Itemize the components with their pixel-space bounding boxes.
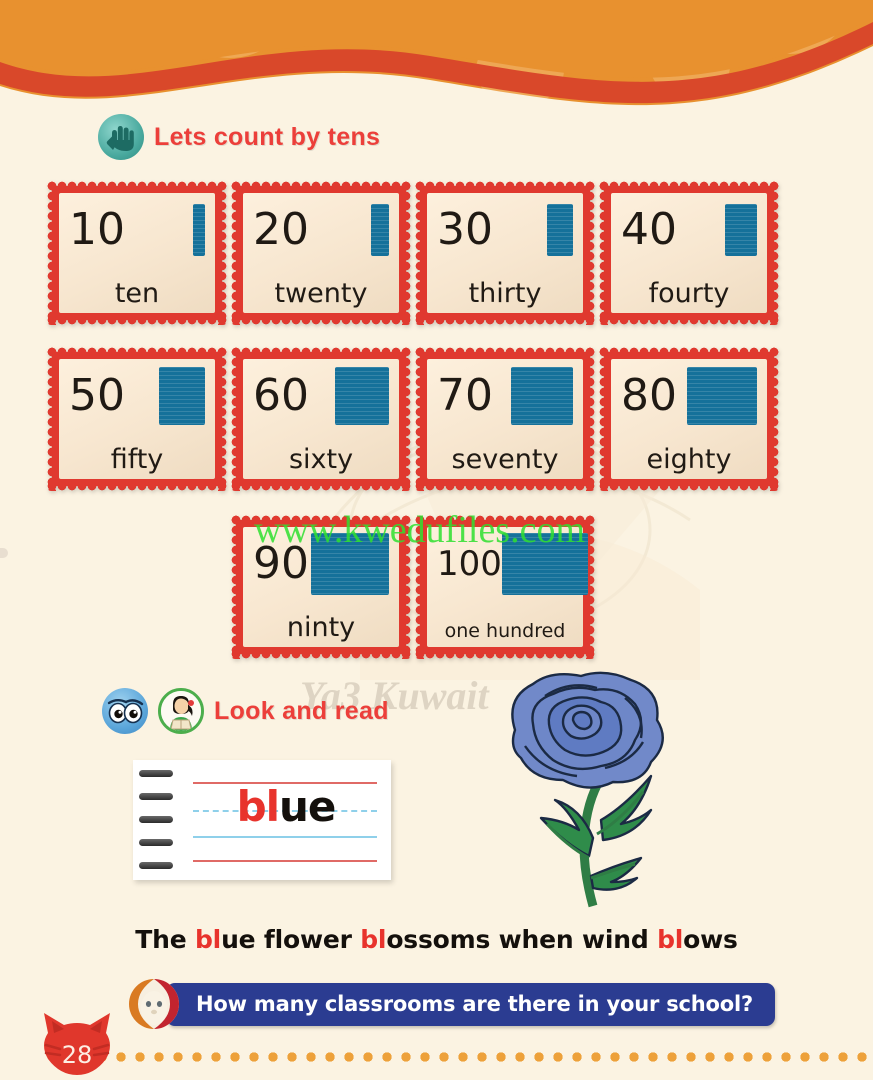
card-number: 40 xyxy=(621,208,677,252)
card-number: 100 xyxy=(437,547,502,581)
base-ten-block xyxy=(547,204,573,256)
card-number: 30 xyxy=(437,208,493,252)
number-card[interactable]: 30 thirty xyxy=(420,186,590,320)
number-card-row-3: 90 ninty 100 one hundred xyxy=(236,520,590,654)
number-card[interactable]: 40 fourty xyxy=(604,186,774,320)
hand-icon xyxy=(98,114,144,160)
number-card[interactable]: 100 one hundred xyxy=(420,520,590,654)
sentence-part: bl xyxy=(657,925,683,954)
base-ten-block xyxy=(725,204,757,256)
sentence-part: The xyxy=(135,925,195,954)
card-word: eighty xyxy=(621,446,757,475)
notebook-word-prefix: bl xyxy=(237,782,279,831)
notebook-word-suffix: ue xyxy=(279,782,335,831)
base-ten-block xyxy=(159,367,205,425)
card-word: thirty xyxy=(437,280,573,309)
card-word: sixty xyxy=(253,446,389,475)
rule-line-baseline xyxy=(193,836,377,838)
card-word: ten xyxy=(69,280,205,309)
sentence-part: ossoms when wind xyxy=(386,925,657,954)
card-word: twenty xyxy=(253,280,389,309)
number-card-row-2: 50 fifty 60 sixty 70 seventy 80 xyxy=(52,352,774,486)
question-banner[interactable]: How many classrooms are there in your sc… xyxy=(166,983,775,1026)
notebook-word: blue xyxy=(181,782,391,831)
sentence-part: bl xyxy=(360,925,386,954)
card-number: 60 xyxy=(253,374,309,418)
number-card[interactable]: 80 eighty xyxy=(604,352,774,486)
base-ten-block xyxy=(193,204,205,256)
page-header-band xyxy=(0,0,873,108)
base-ten-block xyxy=(511,367,573,425)
blue-rose-illustration xyxy=(485,668,705,918)
card-word: fourty xyxy=(621,280,757,309)
number-card[interactable]: 60 sixty xyxy=(236,352,406,486)
section-header-count: Lets count by tens xyxy=(98,114,380,160)
notebook-page: blue xyxy=(181,760,391,880)
base-ten-block xyxy=(311,533,389,595)
number-card-row-1: 10 ten 20 twenty 30 thirty 40 xyxy=(52,186,774,320)
sentence-part: bl xyxy=(195,925,221,954)
card-number: 90 xyxy=(253,542,309,586)
card-number: 10 xyxy=(69,208,125,252)
eyes-icon xyxy=(102,688,148,734)
card-number: 20 xyxy=(253,208,309,252)
card-word: fifty xyxy=(69,446,205,475)
page-number: 28 xyxy=(38,1041,116,1069)
number-card[interactable]: 70 seventy xyxy=(420,352,590,486)
sentence-part: ue flower xyxy=(221,925,360,954)
section-title-look: Look and read xyxy=(214,697,389,726)
sentence-line: The blue flower blossoms when wind blows xyxy=(0,925,873,954)
rule-line-bottom xyxy=(193,860,377,862)
section-header-look: Look and read xyxy=(102,688,389,734)
number-card[interactable]: 20 twenty xyxy=(236,186,406,320)
number-card[interactable]: 50 fifty xyxy=(52,352,222,486)
number-card[interactable]: 90 ninty xyxy=(236,520,406,654)
card-word: one hundred xyxy=(437,622,573,643)
base-ten-block xyxy=(371,204,389,256)
number-card[interactable]: 10 ten xyxy=(52,186,222,320)
girl-reading-icon xyxy=(158,688,204,734)
base-ten-block xyxy=(335,367,389,425)
card-number: 80 xyxy=(621,374,677,418)
card-word: seventy xyxy=(437,446,573,475)
page-number-badge: 28 xyxy=(38,1011,116,1077)
footer-dotted-rule xyxy=(95,1050,873,1064)
sentence-part: ows xyxy=(683,925,738,954)
base-ten-block xyxy=(502,533,588,595)
dog-mascot-icon xyxy=(128,978,180,1030)
card-number: 70 xyxy=(437,374,493,418)
question-row: How many classrooms are there in your sc… xyxy=(128,978,775,1030)
section-title-count: Lets count by tens xyxy=(154,123,380,152)
card-word: ninty xyxy=(253,614,389,643)
notebook-spiral xyxy=(139,770,177,870)
card-number: 50 xyxy=(69,374,125,418)
notebook-card: blue xyxy=(133,760,391,880)
base-ten-block xyxy=(687,367,757,425)
page-edge-nub xyxy=(0,548,8,558)
